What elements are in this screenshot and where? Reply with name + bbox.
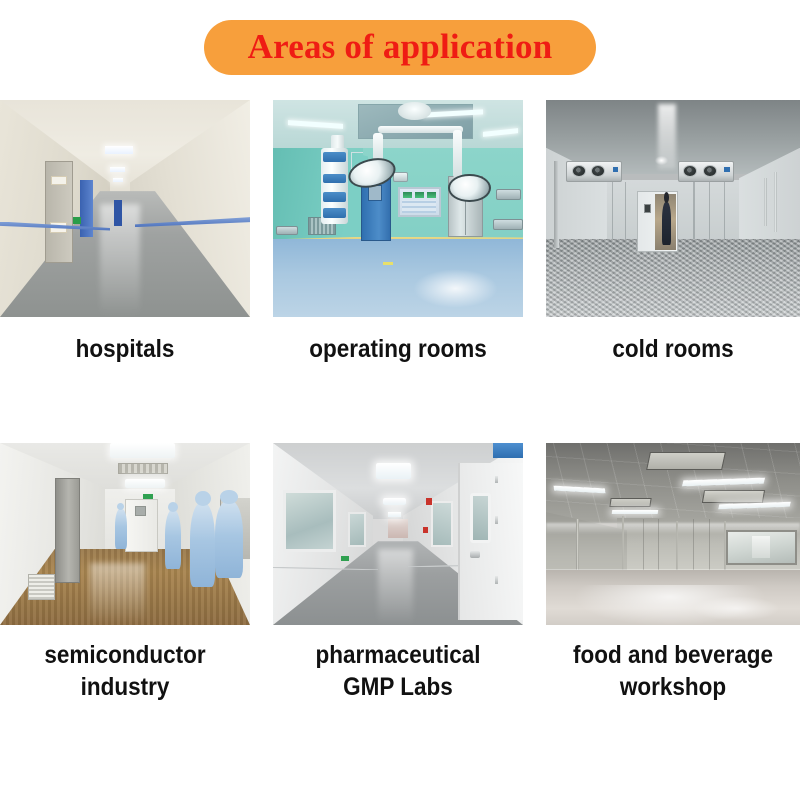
refrigerant-pipe xyxy=(764,178,767,226)
or-control-panel xyxy=(398,187,441,217)
floor-reflection xyxy=(90,563,145,625)
cleanroom-worker xyxy=(115,509,127,549)
wall-corner-post xyxy=(576,519,578,574)
gallery-row-2: semiconductor industry xyxy=(0,443,800,703)
air-return-vent xyxy=(28,574,56,599)
wall-corner-post xyxy=(676,521,678,572)
cabinet-door-split xyxy=(465,197,466,235)
ceiling-light-icon xyxy=(105,146,133,155)
evaporator-unit-left xyxy=(566,161,622,183)
hepa-filter-panel xyxy=(702,490,765,503)
ceiling-light-icon xyxy=(388,512,401,516)
gallery-cell-food-beverage[interactable]: food and beverage workshop xyxy=(546,443,800,703)
door-handle-icon[interactable] xyxy=(470,551,479,559)
ceiling-light-icon xyxy=(113,178,123,181)
ceiling-light-icon xyxy=(376,463,411,479)
gallery-cell-operating-rooms[interactable]: operating rooms xyxy=(273,100,523,365)
pendant-module xyxy=(323,174,346,184)
surgical-light-arm xyxy=(378,126,463,133)
auxiliary-light xyxy=(393,172,408,183)
pendant-module xyxy=(323,152,346,162)
door-hinge-icon xyxy=(495,476,499,484)
refrigerant-pipe xyxy=(774,172,777,233)
corridor-end-door xyxy=(114,200,122,226)
panel-buttons xyxy=(402,200,436,212)
gallery-cell-semiconductor[interactable]: semiconductor industry xyxy=(0,443,250,703)
door-window xyxy=(135,506,146,515)
exit-sign-icon xyxy=(341,556,350,561)
floor-marker xyxy=(383,262,393,265)
operating-room-photo[interactable] xyxy=(273,100,523,317)
fan-icon xyxy=(683,165,697,177)
window-inner-panel xyxy=(752,536,769,558)
row-spacer xyxy=(0,365,800,443)
ceiling-light-icon xyxy=(125,479,165,487)
application-areas-page: Areas of application xyxy=(0,0,800,800)
door-jamb xyxy=(554,161,559,248)
hepa-filter-panel xyxy=(609,498,651,507)
ceiling-light-icon xyxy=(110,443,175,458)
panel-display-icon xyxy=(403,192,412,198)
ceiling-light-icon xyxy=(110,167,125,172)
fan-icon xyxy=(572,165,586,177)
exit-sign-icon xyxy=(73,217,82,224)
panel-seam xyxy=(658,519,659,574)
pharmaceutical-gmp-lab-photo[interactable] xyxy=(273,443,523,625)
air-handling-grille xyxy=(118,463,168,474)
wall-outlet-panel xyxy=(496,189,521,200)
cleanroom-worker xyxy=(190,503,215,587)
door-hinge-icon xyxy=(495,576,499,584)
page-header: Areas of application xyxy=(0,20,800,75)
unit-label-badge xyxy=(724,167,729,171)
application-gallery-grid: hospitals xyxy=(0,100,800,703)
fan-icon xyxy=(591,165,605,177)
panel-seam xyxy=(643,519,644,574)
food-beverage-workshop-photo[interactable] xyxy=(546,443,800,625)
cleanroom-door xyxy=(125,499,158,552)
panel-seam xyxy=(709,519,710,574)
door-hinge-icon xyxy=(495,516,499,524)
ceiling-boom-hub xyxy=(398,102,431,119)
panel-seam xyxy=(693,519,694,574)
worker-figure xyxy=(662,202,671,245)
corridor-vanishing-point xyxy=(388,519,408,537)
surgical-light-icon xyxy=(448,174,491,202)
door-sign xyxy=(51,176,67,185)
corridor-door-left xyxy=(45,161,73,263)
observation-window-right xyxy=(431,501,454,547)
gallery-cell-pharmaceutical[interactable]: pharmaceutical GMP Labs xyxy=(273,443,523,703)
workshop-view-window xyxy=(726,530,797,565)
hospital-corridor-photo[interactable] xyxy=(0,100,250,317)
hepa-filter-panel xyxy=(646,452,726,470)
cleanroom-worker xyxy=(215,501,243,577)
door-window xyxy=(470,493,491,543)
gallery-caption: semiconductor industry xyxy=(13,625,238,703)
ceiling-light-icon xyxy=(383,498,406,505)
cold-room-photo[interactable] xyxy=(546,100,800,317)
emergency-sign-icon xyxy=(423,527,428,533)
gallery-caption: hospitals xyxy=(13,317,238,365)
gallery-caption: food and beverage workshop xyxy=(559,625,788,703)
floor-reflection xyxy=(693,596,779,621)
gallery-caption: cold rooms xyxy=(559,317,788,365)
door-control-panel xyxy=(644,204,651,213)
wall-sign-badge xyxy=(493,443,523,458)
wall-outlet-panel xyxy=(493,219,523,230)
observation-window-left xyxy=(348,512,366,547)
pendant-module xyxy=(323,192,346,202)
medical-pendant-column xyxy=(321,148,349,224)
gallery-cell-cold-rooms[interactable]: cold rooms xyxy=(546,100,800,365)
fan-icon xyxy=(703,165,717,177)
ceiling-light-icon xyxy=(612,510,658,514)
evaporator-unit-right xyxy=(678,161,734,183)
title-pill-badge: Areas of application xyxy=(204,20,597,75)
semiconductor-cleanroom-photo[interactable] xyxy=(0,443,250,625)
gallery-caption: operating rooms xyxy=(286,317,511,365)
cold-room-door[interactable] xyxy=(637,191,678,252)
panel-display-icon xyxy=(427,192,436,198)
wall-outlet-panel xyxy=(276,226,299,235)
unit-label-badge xyxy=(613,167,618,171)
observation-window-left xyxy=(283,490,336,552)
gallery-caption: pharmaceutical GMP Labs xyxy=(286,625,511,703)
gallery-cell-hospitals[interactable]: hospitals xyxy=(0,100,250,365)
emergency-sign-icon xyxy=(426,498,432,505)
gallery-row-1: hospitals xyxy=(0,100,800,365)
floor-reflection xyxy=(378,549,413,625)
gmp-door-right[interactable] xyxy=(458,463,523,620)
ceiling-light-icon xyxy=(655,156,668,165)
surgical-light-arm xyxy=(453,130,462,178)
floor-reflection xyxy=(413,269,498,308)
pendant-module xyxy=(323,208,346,218)
panel-display-icon xyxy=(415,192,424,198)
open-door-frame xyxy=(55,478,80,584)
page-title: Areas of application xyxy=(248,27,553,66)
cleanroom-worker xyxy=(165,510,181,568)
